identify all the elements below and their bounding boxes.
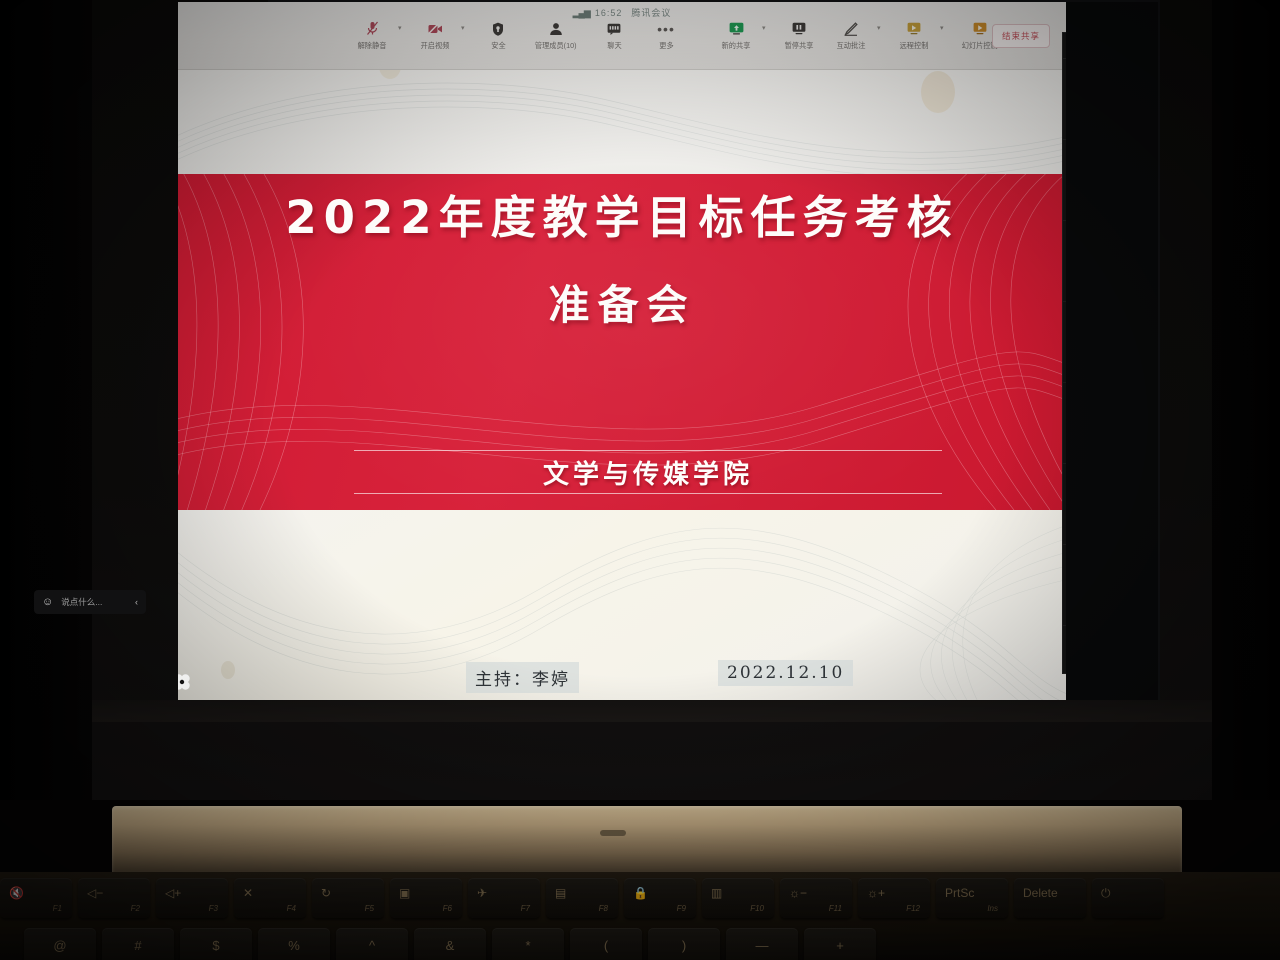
slide-organization-name: 文学与传媒学院 (354, 454, 942, 491)
toolbar-button-new-share[interactable]: 新的共享 (710, 20, 762, 51)
share-screen-icon (729, 20, 744, 37)
toolbar-label-pause-share: 暂停共享 (785, 40, 814, 51)
list-item[interactable]: 用户 🎤 微信用户 (1063, 383, 1066, 464)
slide-control-icon (973, 20, 987, 37)
toolbar-label-start-video: 开启视频 (421, 40, 450, 51)
key-fn-label: F2 (131, 904, 140, 913)
shield-icon (492, 20, 504, 37)
keyboard-key: ☼+F12 (858, 878, 930, 918)
chevron-down-icon-remote[interactable]: ▾ (940, 24, 951, 32)
key-glyph: # (134, 938, 141, 953)
key-glyph: & (446, 938, 455, 953)
toolbar-button-annotate[interactable]: 互动批注 (825, 20, 877, 51)
keyboard-key: ⏻ (1092, 878, 1164, 918)
divider-line-bottom (354, 493, 942, 494)
remote-control-icon (907, 20, 921, 37)
chat-input-bar[interactable]: ☺ 说点什么... ‹ (34, 590, 146, 614)
key-glyph: 🔇 (9, 886, 24, 900)
toolbar-label-annotate: 互动批注 (837, 40, 866, 51)
key-glyph: PrtSc (945, 886, 974, 900)
keyboard-key: — (726, 928, 798, 960)
toolbar-button-chat[interactable]: 聊天 (588, 20, 640, 51)
chevron-left-icon[interactable]: ‹ (135, 597, 138, 607)
list-item[interactable]: ♟ 🎤 李婷 (1063, 59, 1066, 140)
smiley-icon[interactable]: ☺ (42, 596, 53, 608)
keyboard-key: ◁−F2 (78, 878, 150, 918)
key-glyph: ) (682, 938, 686, 953)
toolbar-button-pause-share[interactable]: 暂停共享 (773, 20, 825, 51)
keyboard-key: ^ (336, 928, 408, 960)
slide-date-label: 2022.12.10 (718, 660, 853, 686)
people-icon (549, 20, 563, 37)
key-glyph: $ (212, 938, 219, 953)
slide-bottom-band: 主持：李婷 2022.12.10 (178, 510, 1066, 702)
key-fn-label: F7 (521, 904, 530, 913)
slide-top-band (178, 70, 1066, 174)
slide-subtitle: 准备会 (178, 271, 1066, 331)
keyboard-key: 🔒F9 (624, 878, 696, 918)
keyboard-key: * (492, 928, 564, 960)
key-glyph: 🔒 (633, 886, 648, 900)
photo-of-laptop-scene: ▂▄▆16:52腾讯会议 解除静音 ▾ 开启视频 ▾ (0, 0, 1280, 960)
key-glyph: — (756, 938, 769, 953)
key-glyph: ▤ (555, 886, 566, 900)
toolbar-label-chat: 聊天 (607, 40, 621, 51)
participants-panel-header: 正在讲话 ••• (1063, 33, 1066, 59)
key-glyph: ▥ (711, 886, 722, 900)
key-fn-label: F8 (599, 904, 608, 913)
keyboard-key: 🔇F1 (0, 878, 72, 918)
keyboard-key: $ (180, 928, 252, 960)
list-item[interactable]: 🎤 多多 (1063, 140, 1066, 221)
ellipsis-icon: ••• (657, 20, 675, 37)
key-glyph: ^ (369, 938, 375, 953)
meeting-status-bar: ▂▄▆16:52腾讯会议 (178, 6, 1066, 19)
laptop-hinge (92, 700, 1212, 722)
toolbar-button-remote-control[interactable]: 远程控制 (888, 20, 940, 51)
list-item[interactable]: 🎤 罗相如 (1063, 302, 1066, 383)
slide-organization-block: 文学与传媒学院 (354, 450, 942, 494)
key-glyph: ✕ (243, 886, 253, 900)
toolbar-button-manage-members[interactable]: 管理成员(10) (524, 20, 588, 51)
chat-input-placeholder[interactable]: 说点什么... (61, 596, 102, 608)
camera-off-icon (428, 20, 443, 37)
annotate-pen-icon (844, 20, 858, 37)
divider-line-top (354, 450, 942, 451)
key-fn-label: F6 (443, 904, 452, 913)
keyboard-key: ✈F7 (468, 878, 540, 918)
list-item[interactable]: 🎤 黄治强 (1063, 545, 1066, 626)
toolbar-label-remote-control: 远程控制 (900, 40, 929, 51)
clock-label: 16:52 (595, 8, 623, 18)
keyboard-key: % (258, 928, 330, 960)
chevron-down-icon-annotate[interactable]: ▾ (877, 24, 888, 32)
toolbar-button-security[interactable]: 安全 (472, 20, 524, 51)
key-glyph: ☼− (789, 886, 807, 900)
key-glyph: ◁− (87, 886, 103, 900)
key-glyph: ⏻ (1101, 886, 1111, 901)
chevron-down-icon-video[interactable]: ▾ (461, 24, 472, 32)
app-name-label: 腾讯会议 (631, 8, 671, 18)
chevron-down-icon-new-share[interactable]: ▾ (762, 24, 773, 32)
keyboard-key: ◁+F3 (156, 878, 228, 918)
keyboard-key: ✕F4 (234, 878, 306, 918)
key-glyph: ↻ (321, 886, 331, 900)
signal-bars-icon: ▂▄▆ (573, 8, 590, 19)
keyboard-key: & (414, 928, 486, 960)
list-item[interactable]: 🎤 背包客 (1063, 221, 1066, 302)
end-share-button[interactable]: 结束共享 (992, 24, 1050, 48)
key-glyph: % (288, 938, 300, 953)
key-fn-label: F5 (365, 904, 374, 913)
chat-bubble-icon (607, 20, 621, 37)
list-item[interactable]: 🎤 谭浩民 (1063, 464, 1066, 545)
keyboard-key: ( (570, 928, 642, 960)
key-glyph: @ (53, 938, 66, 953)
chevron-down-icon-scroll[interactable]: ⌄ (1063, 658, 1066, 671)
laptop-screen: ▂▄▆16:52腾讯会议 解除静音 ▾ 开启视频 ▾ (178, 2, 1066, 702)
toolbar-button-unmute[interactable]: 解除静音 (346, 20, 398, 51)
keyboard-key: ▤F8 (546, 878, 618, 918)
meeting-toolbar: ▂▄▆16:52腾讯会议 解除静音 ▾ 开启视频 ▾ (178, 2, 1066, 70)
participants-list[interactable]: ♟ 🎤 李婷 🎤 多多 (1063, 59, 1066, 673)
key-glyph: ◁+ (165, 886, 181, 900)
key-glyph: ✈ (477, 886, 487, 900)
key-glyph: * (525, 938, 530, 953)
key-fn-label: F1 (53, 904, 62, 913)
key-glyph: ( (604, 938, 608, 953)
keyboard-key: ▣F6 (390, 878, 462, 918)
slide-host-label: 主持：李婷 (466, 662, 579, 693)
keyboard-function-row: 🔇F1◁−F2◁+F3✕F4↻F5▣F6✈F7▤F8🔒F9▥F10☼−F11☼+… (0, 878, 1280, 920)
slide-top-decoration (178, 70, 1066, 174)
keyboard-key: ☼−F11 (780, 878, 852, 918)
toolbar-label-security: 安全 (491, 40, 505, 51)
keyboard-key: # (102, 928, 174, 960)
slide-title-block: 2022年度教学目标任务考核 准备会 (178, 194, 1066, 331)
chevron-down-icon-unmute[interactable]: ▾ (398, 24, 409, 32)
key-fn-label: Ins (987, 904, 998, 913)
keyboard-key: + (804, 928, 876, 960)
toolbar-label-manage-members: 管理成员(10) (535, 40, 577, 51)
palmrest-notch (600, 830, 626, 836)
keyboard-key: ) (648, 928, 720, 960)
key-fn-label: F10 (750, 904, 764, 913)
key-glyph: ☼+ (867, 886, 885, 900)
keyboard-key: ↻F5 (312, 878, 384, 918)
toolbar-label-more: 更多 (659, 40, 673, 51)
shared-slide: 主持：李婷 2022.12.10 2022年度教学目标任务考核 准备会 文学与传… (178, 70, 1066, 702)
key-fn-label: F12 (906, 904, 920, 913)
keyboard-key: ▥F10 (702, 878, 774, 918)
laptop-keyboard: 🔇F1◁−F2◁+F3✕F4↻F5▣F6✈F7▤F8🔒F9▥F10☼−F11☼+… (0, 872, 1280, 960)
key-fn-label: F3 (209, 904, 218, 913)
toolbar-label-new-share: 新的共享 (722, 40, 751, 51)
microphone-muted-icon (366, 20, 379, 37)
toolbar-button-more[interactable]: ••• 更多 (640, 20, 692, 51)
key-fn-label: F9 (677, 904, 686, 913)
participants-panel: 正在讲话 ••• ♟ 🎤 李婷 (1062, 32, 1066, 674)
slide-bottom-decoration (178, 510, 1066, 702)
toolbar-button-start-video[interactable]: 开启视频 (409, 20, 461, 51)
keyboard-key: @ (24, 928, 96, 960)
key-glyph: Delete (1023, 886, 1058, 900)
keyboard-key: Delete (1014, 878, 1086, 918)
keyboard-number-row: @#$%^&*()—+ (0, 928, 1280, 960)
laptop-palmrest (112, 806, 1182, 872)
key-fn-label: F4 (287, 904, 296, 913)
key-glyph: ▣ (399, 886, 410, 900)
clover-logo-icon (178, 670, 194, 694)
pause-icon (792, 20, 806, 37)
toolbar-label-unmute: 解除静音 (358, 40, 387, 51)
key-fn-label: F11 (829, 904, 842, 913)
slide-main-title: 2022年度教学目标任务考核 (178, 194, 1066, 241)
key-glyph: + (836, 938, 844, 953)
keyboard-key: PrtScIns (936, 878, 1008, 918)
toolbar-items: 解除静音 ▾ 开启视频 ▾ 安全 (346, 20, 1009, 66)
